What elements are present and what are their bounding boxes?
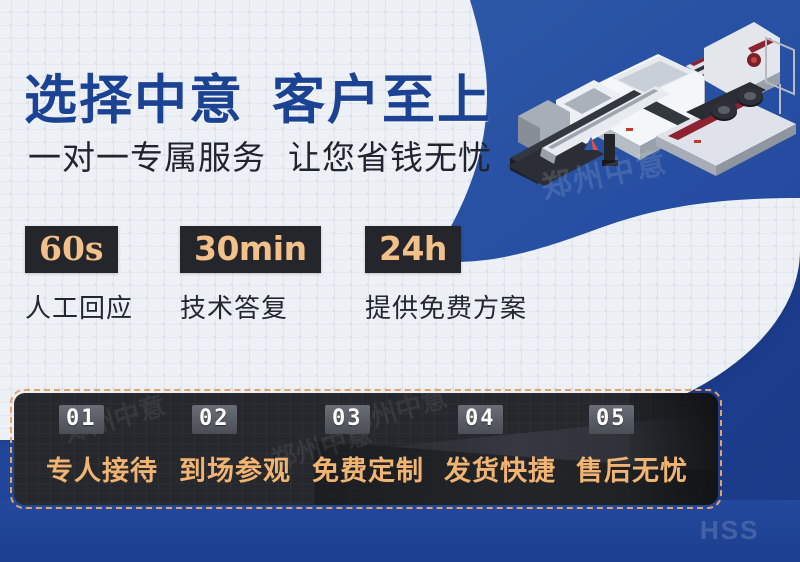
feature-row: 60s 人工回应 30min 技术答复 24h 提供免费方案 bbox=[0, 226, 800, 344]
headline-part-2: 客户至上 bbox=[272, 70, 492, 131]
subline-part-1: 一对一专属服务 bbox=[28, 138, 266, 177]
feature-item-3: 24h 提供免费方案 bbox=[365, 226, 527, 325]
feature-chip-1: 60s bbox=[25, 226, 118, 273]
subline-part-2: 让您省钱无忧 bbox=[288, 138, 492, 177]
feature-caption-1: 人工回应 bbox=[25, 288, 133, 325]
promo-banner: 郑州中意 bbox=[0, 0, 800, 562]
headline-part-1: 选择中意 bbox=[24, 70, 244, 131]
steps-banner: 郑州中意 郑州中意 郑州中意 01 02 03 04 05 专人接待 到场参观 … bbox=[10, 389, 722, 509]
bottom-blue-strip bbox=[0, 500, 800, 562]
feature-item-2: 30min 技术答复 bbox=[180, 226, 321, 325]
feature-caption-2: 技术答复 bbox=[180, 288, 321, 325]
corner-watermark: HSS bbox=[700, 515, 759, 546]
feature-item-1: 60s 人工回应 bbox=[25, 226, 133, 325]
feature-chip-3: 24h bbox=[365, 226, 461, 273]
page-subtitle: 一对一专属服务让您省钱无忧 bbox=[28, 131, 492, 179]
steps-dashed-border bbox=[10, 389, 722, 509]
feature-caption-3: 提供免费方案 bbox=[365, 288, 527, 325]
feature-chip-2: 30min bbox=[180, 226, 321, 273]
page-title: 选择中意客户至上 bbox=[24, 58, 492, 134]
